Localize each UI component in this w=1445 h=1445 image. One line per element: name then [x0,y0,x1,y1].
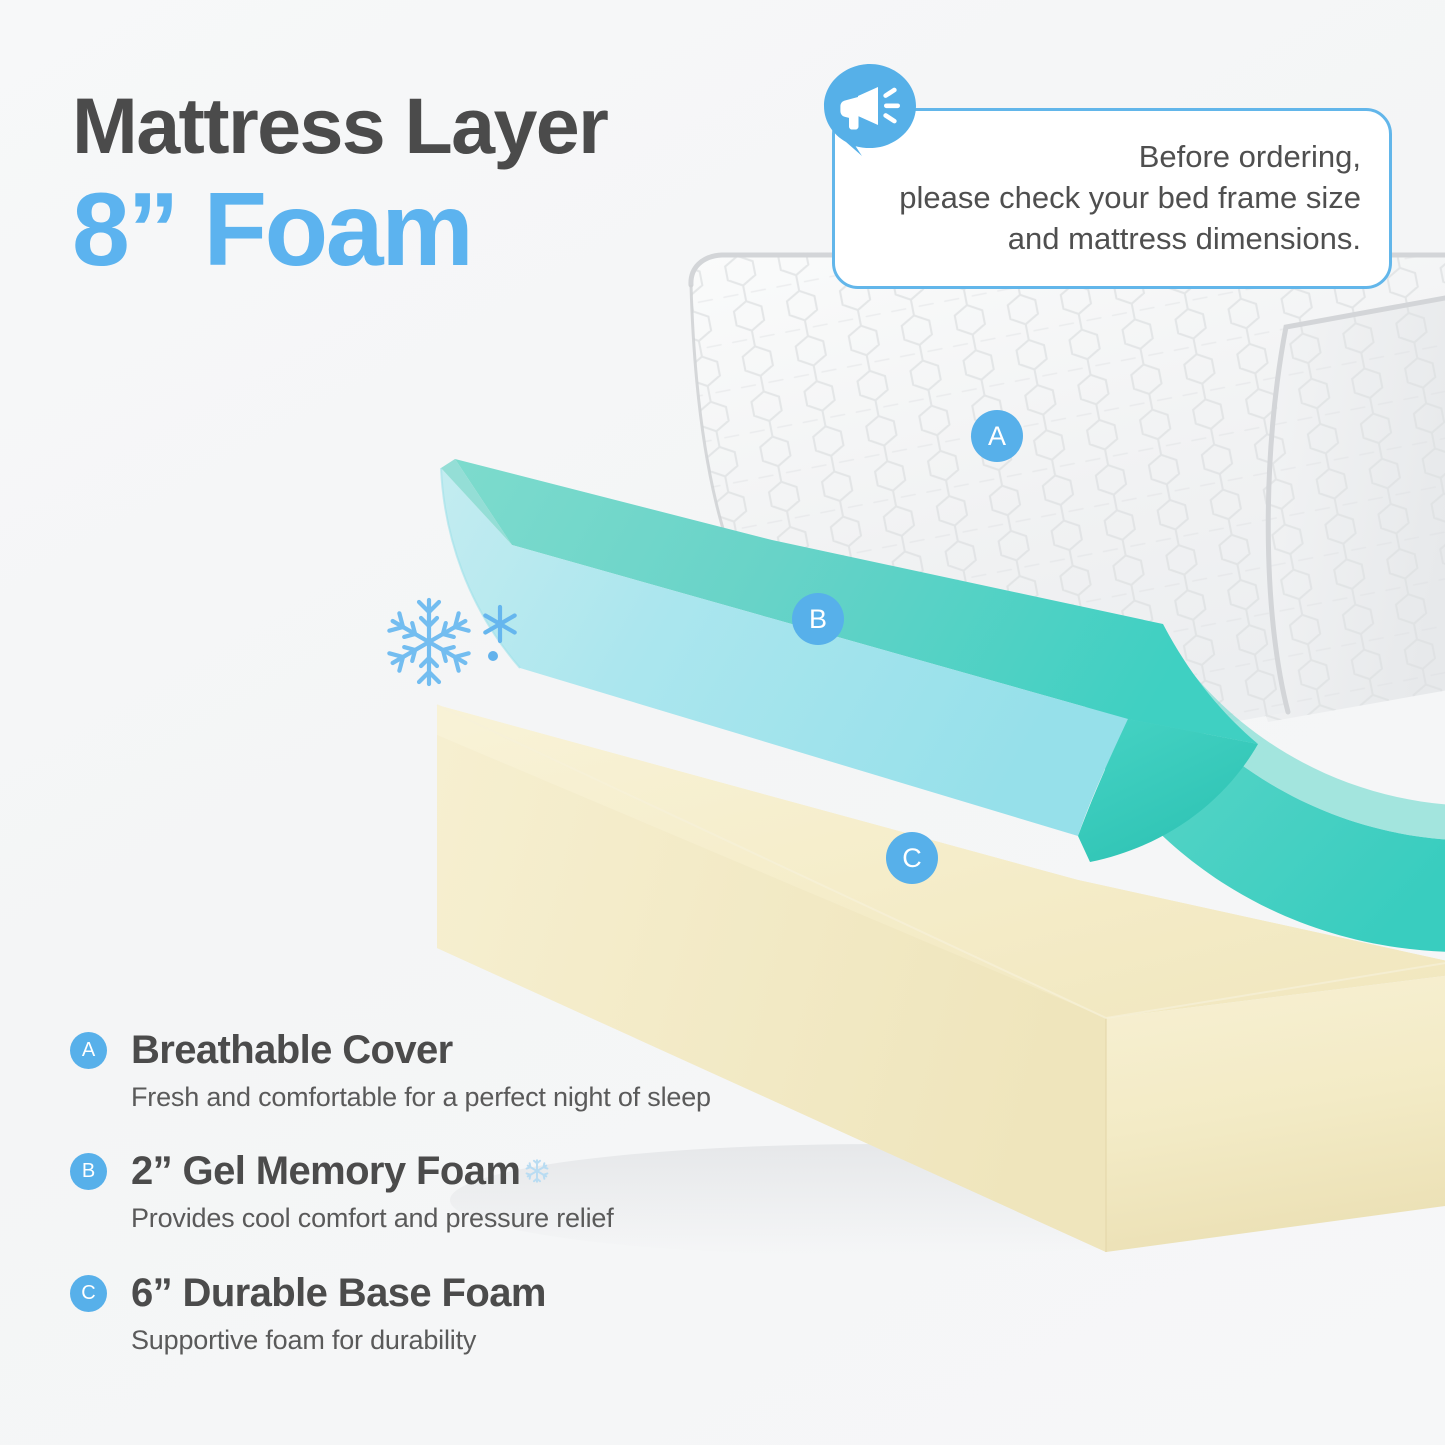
legend-desc-c: Supportive foam for durability [131,1324,930,1356]
legend-title-b: 2” Gel Memory Foam [131,1149,930,1193]
snowflake-inline-icon [524,1158,550,1184]
legend-title-text-a: Breathable Cover [131,1028,453,1072]
layer-gel-memory-foam [441,459,1445,952]
legend-badge-c: C [70,1275,107,1312]
legend-title-c: 6” Durable Base Foam [131,1271,930,1315]
layer-breathable-cover [691,255,1445,735]
diagram-badge-b: B [792,593,844,645]
notice-text: Before ordering, please check your bed f… [863,137,1361,260]
headline-block: Mattress Layer 8” Foam [72,86,792,283]
snowflake-cluster [383,592,543,692]
legend-desc-a: Fresh and comfortable for a perfect nigh… [131,1081,930,1113]
snowflake-small-icon [485,607,514,641]
snow-dot-icon [488,651,498,661]
legend-badge-b: B [70,1153,107,1190]
snowflake-large-icon [388,600,471,684]
legend-item-durable-base-foam: C 6” Durable Base Foam Supportive foam f… [70,1271,930,1356]
legend-item-gel-memory-foam: B 2” Gel Memory Foam [70,1149,930,1234]
legend-title-text-c: 6” Durable Base Foam [131,1271,546,1315]
megaphone-icon [822,62,918,158]
legend-badge-a: A [70,1032,107,1069]
legend-item-breathable-cover: A Breathable Cover Fresh and comfortable… [70,1028,930,1113]
diagram-badge-c: C [886,832,938,884]
legend-title-a: Breathable Cover [131,1028,930,1072]
legend-desc-b: Provides cool comfort and pressure relie… [131,1202,930,1234]
page-subtitle: 8” Foam [72,177,792,283]
diagram-badge-a: A [971,410,1023,462]
infographic-page: Mattress Layer 8” Foam Before ordering, … [0,0,1445,1445]
page-title: Mattress Layer [72,86,792,167]
legend-title-text-b: 2” Gel Memory Foam [131,1149,520,1193]
legend: A Breathable Cover Fresh and comfortable… [70,1028,930,1356]
